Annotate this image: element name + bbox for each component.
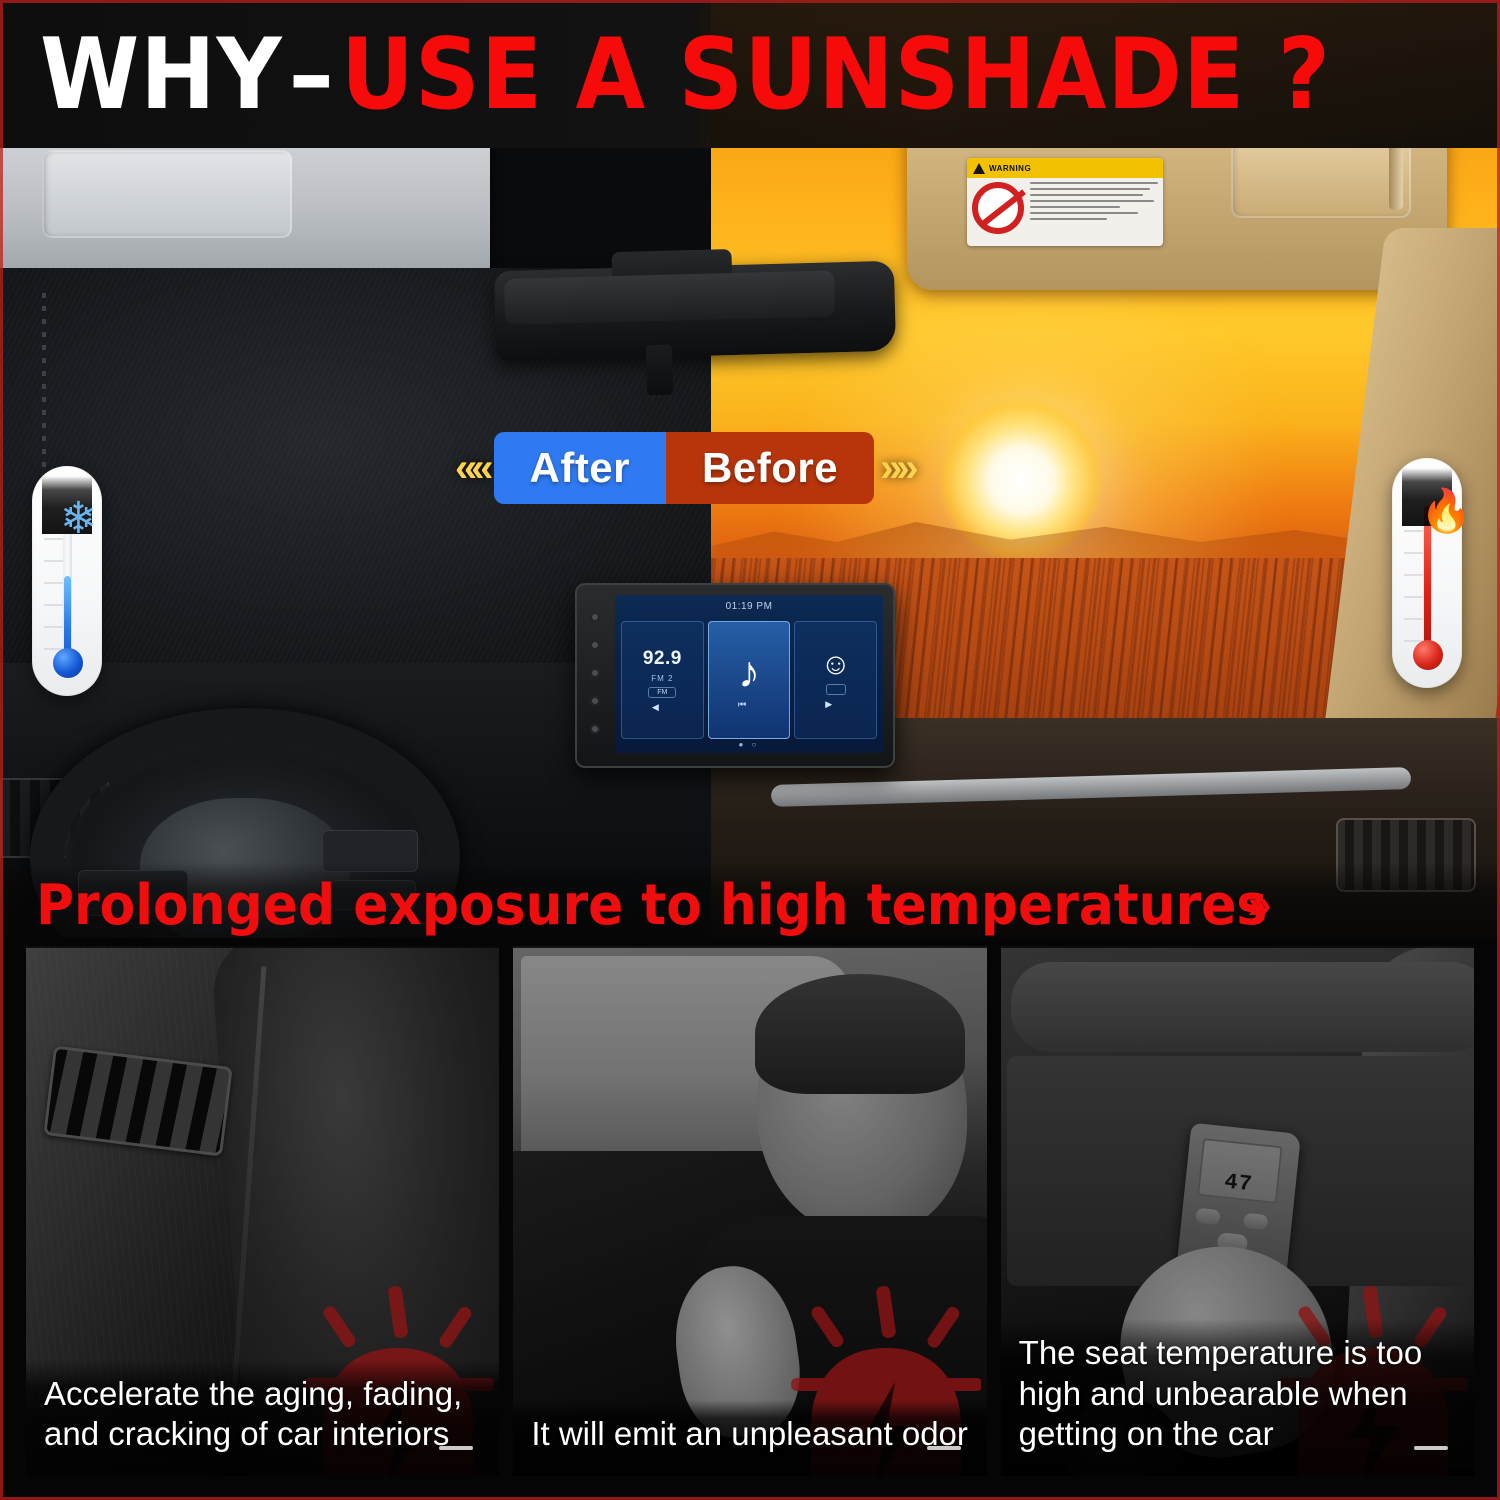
after-side-photo (0, 118, 711, 938)
dashboard-chrome-trim (771, 767, 1411, 807)
panel-unpleasant-odor: It will emit an unpleasant odor (513, 946, 986, 1476)
head-unit-clock: 01:19 PM (726, 601, 773, 612)
head-unit-statusbar: 01:19 PM (615, 595, 883, 617)
phone-contact-chip[interactable] (826, 684, 846, 695)
tile-media[interactable]: ♪ ⏮ (708, 621, 791, 739)
snowflake-icon: ❄ (60, 494, 97, 543)
photo-man-covering-nose (513, 946, 986, 1476)
person-hair (755, 974, 965, 1094)
poster-header: WHY–USE A SUNSHADE ? (0, 0, 1500, 148)
page-title: WHY–USE A SUNSHADE ? (40, 26, 1331, 124)
warning-label-header: WARNING (967, 158, 1163, 178)
panel-interior-aging: Accelerate the aging, fading, and cracki… (26, 946, 499, 1476)
title-dash: – (283, 18, 341, 132)
caption-text: Accelerate the aging, fading, and cracki… (44, 1374, 481, 1455)
radio-seek-controls[interactable]: ◀ (652, 702, 673, 713)
caption-text: It will emit an unpleasant odor (531, 1414, 968, 1454)
mirror-stem (646, 345, 673, 396)
panel-hot-seat: 47 (1001, 946, 1474, 1476)
media-transport-controls[interactable]: ⏮ (738, 699, 760, 710)
warning-triangle-icon (973, 163, 985, 174)
thermometer-gun-display: 47 (1197, 1138, 1283, 1204)
warning-label-textlines (1030, 182, 1158, 234)
gun-button-left (1195, 1208, 1220, 1225)
visor-warning-label: WARNING (967, 158, 1163, 246)
before-after-badge-group: «« After Before »» (455, 432, 913, 504)
caption-underscore (927, 1446, 961, 1450)
seat-cushion-top (1011, 962, 1474, 1052)
caption-underscore (1414, 1446, 1448, 1450)
snowflake-icon-wrap: ❄ (42, 476, 92, 534)
hot-thermometer: 🔥 (1392, 458, 1462, 688)
chevron-left-icon: «« (455, 448, 488, 488)
visor-pocket (1231, 138, 1411, 218)
visor-clip-icon (52, 156, 68, 228)
visor-pocket-clip-icon (1389, 144, 1403, 210)
thermometer-bulb-cold (53, 648, 83, 678)
phone-nav-controls[interactable]: ▶ (825, 699, 846, 710)
head-unit-button-rail[interactable] (583, 603, 607, 743)
before-side-photo: WARNING (711, 118, 1500, 938)
warning-label-text: WARNING (989, 164, 1031, 173)
after-badge[interactable]: After (494, 432, 667, 504)
mirror-glass (504, 270, 835, 325)
section-headline: Prolonged exposure to high temperatures (36, 873, 1267, 938)
cold-thermometer: ❄ (32, 466, 102, 696)
caption-underscore (439, 1446, 473, 1450)
before-after-hero: WARNING (0, 118, 1500, 938)
eject-button-icon[interactable] (590, 724, 600, 734)
panel-caption-3: The seat temperature is too high and unb… (1001, 1319, 1474, 1476)
chevron-right-icon: »» (880, 448, 913, 488)
home-button-icon[interactable] (590, 640, 600, 650)
caption-text: The seat temperature is too high and unb… (1019, 1333, 1456, 1454)
radio-band-chip[interactable]: FM (648, 687, 676, 698)
radio-frequency: 92.9 (643, 648, 682, 670)
radio-preset: FM 2 (651, 674, 673, 683)
warning-label-body (967, 178, 1163, 238)
infotainment-head-unit[interactable]: 01:19 PM 92.9 FM 2 FM ◀ ♪ ⏮ (575, 583, 895, 768)
flame-icon: 🔥 (1420, 487, 1472, 534)
title-part-sunshade: USE A SUNSHADE ? (341, 18, 1331, 132)
panel-caption-2: It will emit an unpleasant odor (513, 1400, 986, 1476)
volume-button-icon[interactable] (590, 668, 600, 678)
head-unit-tiles[interactable]: 92.9 FM 2 FM ◀ ♪ ⏮ ☺ (621, 621, 877, 739)
person-icon: ☺ (820, 650, 851, 680)
rearview-mirror (494, 261, 896, 361)
screen-page-dots[interactable]: ● ○ (615, 740, 883, 749)
thermometer-bulb-hot (1413, 640, 1443, 670)
power-button-icon[interactable] (590, 612, 600, 622)
before-badge[interactable]: Before (666, 432, 874, 504)
no-child-seat-icon (972, 182, 1024, 234)
gun-button-right (1243, 1213, 1268, 1230)
section-headline-bar: Prolonged exposure to high temperatures … (0, 862, 1500, 948)
consequence-panel-row: Accelerate the aging, fading, and cracki… (0, 946, 1500, 1500)
panel-caption-1: Accelerate the aging, fading, and cracki… (26, 1360, 499, 1477)
tile-phone[interactable]: ☺ ▶ (794, 621, 877, 739)
sun-visor-left (0, 128, 490, 288)
head-unit-screen[interactable]: 01:19 PM 92.9 FM 2 FM ◀ ♪ ⏮ (615, 595, 883, 753)
sunshade-infographic-poster: WARNING (0, 0, 1500, 1500)
settings-button-icon[interactable] (590, 696, 600, 706)
flame-icon-wrap: 🔥 (1402, 468, 1452, 526)
defroster-vent-icon (43, 1045, 233, 1156)
title-part-why: WHY (40, 18, 283, 132)
tile-radio[interactable]: 92.9 FM 2 FM ◀ (621, 621, 704, 739)
music-note-icon: ♪ (738, 651, 760, 695)
